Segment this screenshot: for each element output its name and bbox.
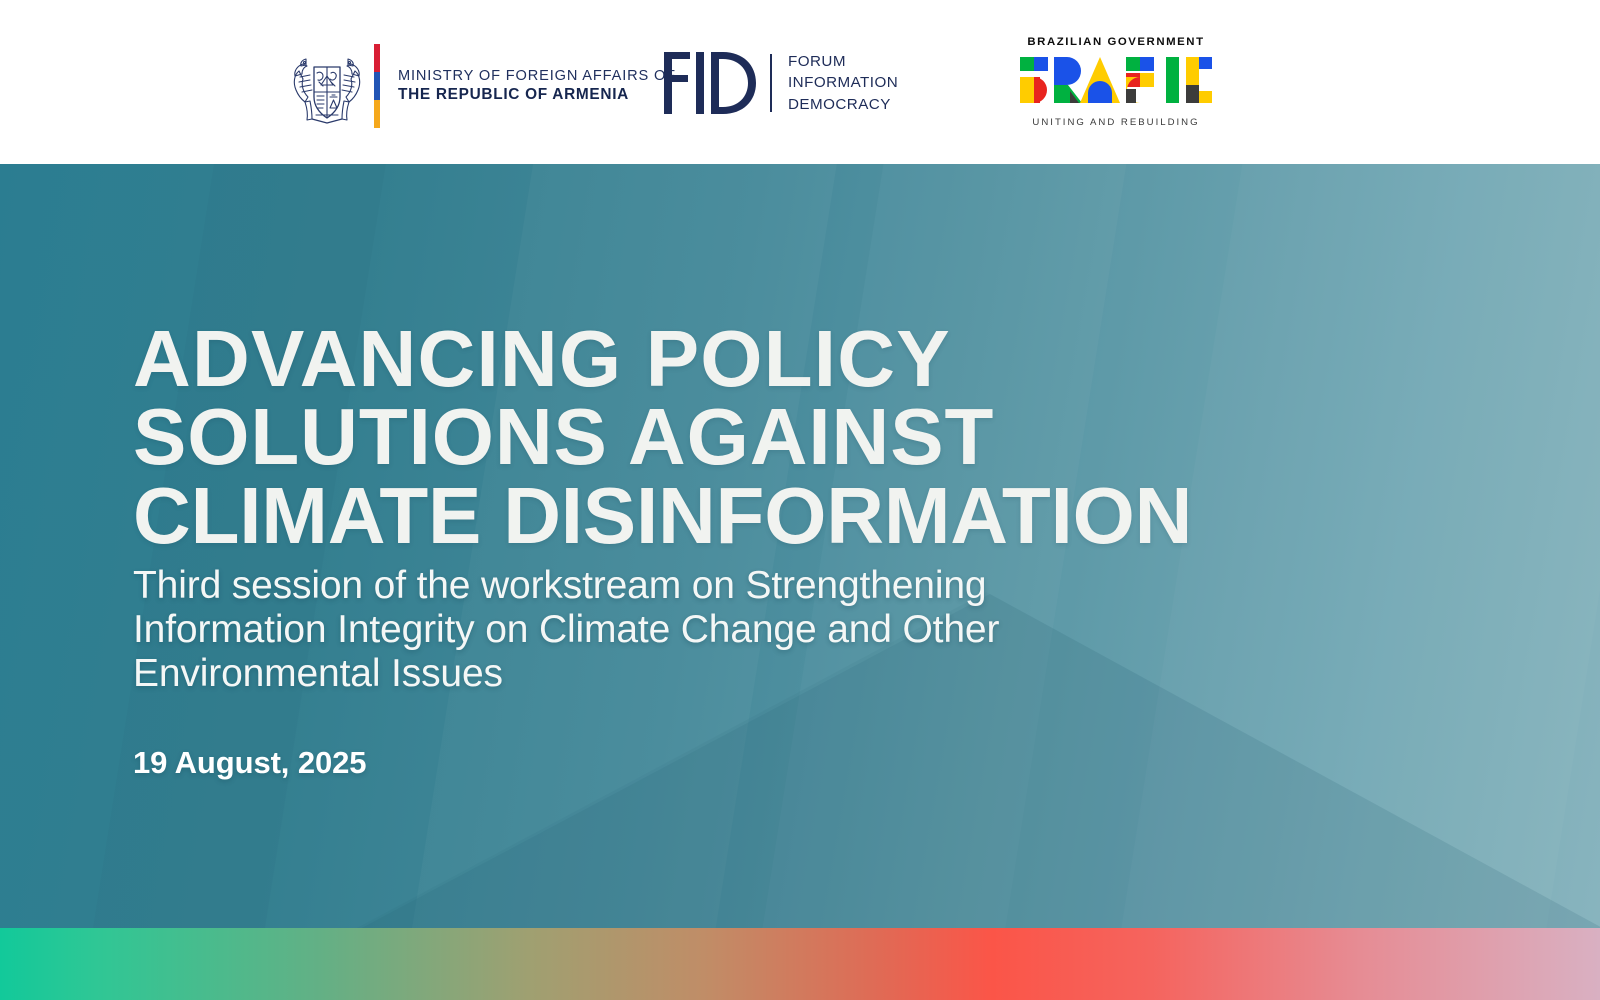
fid-word-line-3: DEMOCRACY: [788, 94, 898, 116]
partner-logo-band: MINISTRY OF FOREIGN AFFAIRS OF THE REPUB…: [0, 0, 1600, 164]
fid-monogram-icon: [664, 52, 756, 114]
page-subtitle-line-1: Third session of the workstream on Stren…: [133, 564, 1153, 608]
page-subtitle: Third session of the workstream on Stren…: [133, 564, 1153, 696]
fid-divider: [770, 54, 772, 112]
brasil-top-label: BRAZILIAN GOVERNMENT: [1012, 36, 1220, 48]
event-date: 19 August, 2025: [133, 745, 366, 781]
page-title: ADVANCING POLICY SOLUTIONS AGAINST CLIMA…: [133, 320, 1473, 556]
page-title-line-1: ADVANCING POLICY: [133, 320, 1473, 399]
brasil-geometric-wordmark-icon: [1014, 55, 1218, 111]
presentation-slide: MINISTRY OF FOREIGN AFFAIRS OF THE REPUB…: [0, 0, 1600, 1000]
armenia-ministry-line-1: MINISTRY OF FOREIGN AFFAIRS OF: [398, 67, 676, 86]
page-title-line-3: CLIMATE DISINFORMATION: [133, 477, 1473, 556]
logo-ministry-foreign-affairs-armenia: MINISTRY OF FOREIGN AFFAIRS OF THE REPUB…: [290, 42, 676, 130]
armenia-coat-of-arms-icon: [290, 45, 364, 127]
armenia-ministry-text: MINISTRY OF FOREIGN AFFAIRS OF THE REPUB…: [398, 67, 676, 105]
brasil-bottom-label: UNITING AND REBUILDING: [1012, 117, 1220, 128]
page-title-line-2: SOLUTIONS AGAINST: [133, 398, 1473, 477]
armenia-ministry-line-2: THE REPUBLIC OF ARMENIA: [398, 85, 676, 105]
fid-word-line-1: FORUM: [788, 51, 898, 73]
page-subtitle-line-3: Environmental Issues: [133, 652, 1153, 696]
fid-word-line-2: INFORMATION: [788, 72, 898, 94]
bottom-accent-bar: [0, 928, 1600, 1000]
page-subtitle-line-2: Information Integrity on Climate Change …: [133, 608, 1153, 652]
armenia-tricolor-icon: [374, 44, 380, 128]
hero-stage: ADVANCING POLICY SOLUTIONS AGAINST CLIMA…: [0, 164, 1600, 928]
logo-forum-information-democracy: FORUM INFORMATION DEMOCRACY: [664, 45, 898, 121]
logo-brazilian-government: BRAZILIAN GOVERNMENT: [1012, 36, 1220, 128]
fid-wordmark-text: FORUM INFORMATION DEMOCRACY: [788, 51, 898, 116]
